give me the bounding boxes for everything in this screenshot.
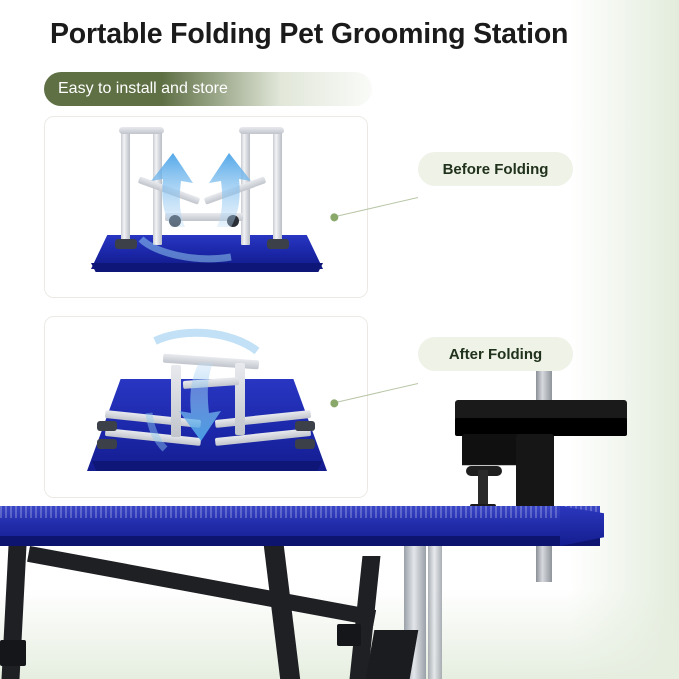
table-top-texture xyxy=(0,506,600,518)
callout-after-folding: After Folding xyxy=(418,337,573,371)
arrow-up-icon xyxy=(45,117,367,297)
table-brace-diagonal xyxy=(27,546,376,626)
panel-before-folding xyxy=(44,116,368,298)
callout-before-label: Before Folding xyxy=(443,161,549,178)
arrow-down-icon xyxy=(45,317,367,497)
background-gradient-right xyxy=(569,0,679,679)
table-edge-shadow xyxy=(0,536,600,546)
product-infographic: Before Folding After Folding Portable Fo… xyxy=(0,0,679,679)
callout-after-label: After Folding xyxy=(449,346,542,363)
table-foot-mid xyxy=(337,624,361,646)
panel-after-folding xyxy=(44,316,368,498)
table-foot-right xyxy=(366,630,419,679)
table-foot-left xyxy=(0,640,26,666)
page-title: Portable Folding Pet Grooming Station xyxy=(50,18,568,51)
table-leg-steel-center-2 xyxy=(428,546,442,679)
callout-before-folding: Before Folding xyxy=(418,152,573,186)
subtitle-banner: Easy to install and store xyxy=(44,72,372,106)
subtitle-label: Easy to install and store xyxy=(44,80,228,98)
table-leg-mid-front xyxy=(264,546,300,679)
